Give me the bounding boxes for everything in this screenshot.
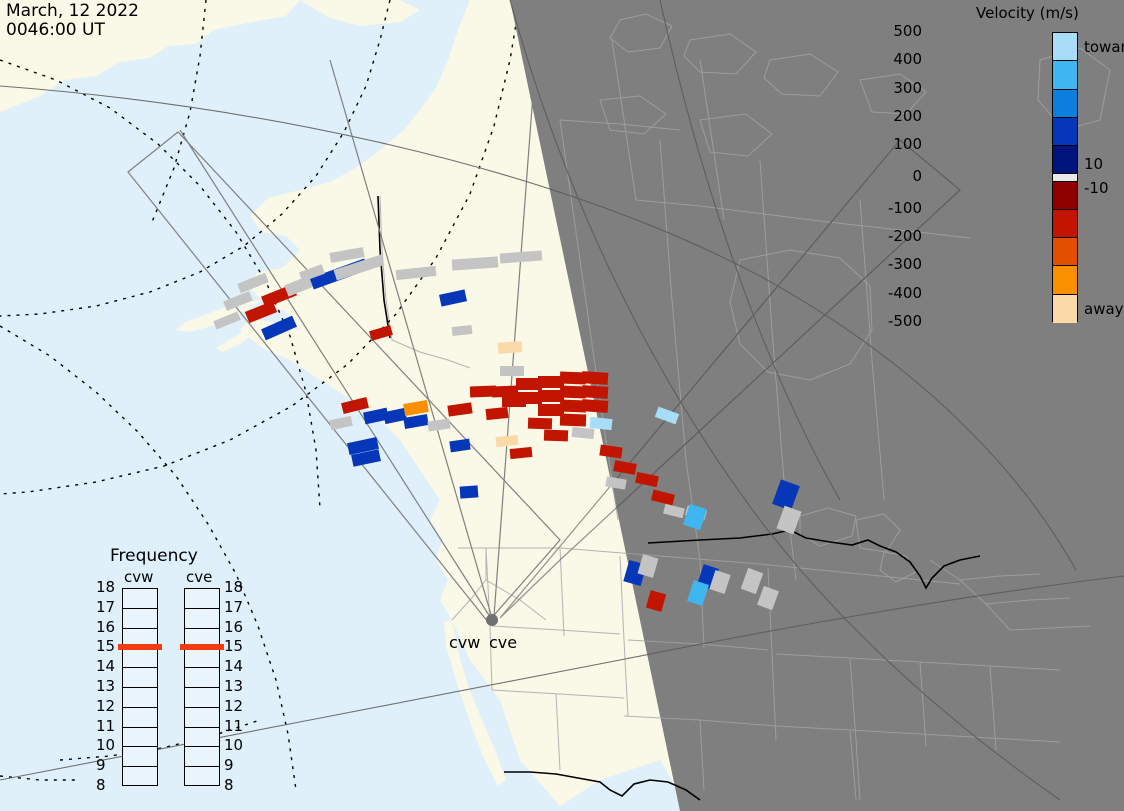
- frequency-scale-segment: [185, 668, 219, 688]
- frequency-tick-left: 10: [96, 736, 115, 754]
- velocity-cell: [582, 399, 609, 413]
- frequency-tick-right: 11: [224, 717, 243, 735]
- frequency-tick-right: 8: [224, 776, 234, 794]
- radar-label-cvw: cvw: [449, 633, 480, 652]
- colorbar-away-label: away: [1084, 300, 1124, 318]
- frequency-scale-segment: [185, 708, 219, 728]
- frequency-legend-title: Frequency: [110, 546, 198, 566]
- colorbar-band: [1053, 61, 1077, 89]
- colorbar-tick-label: -100: [888, 199, 922, 217]
- frequency-tick-left: 18: [96, 578, 115, 596]
- colorbar-band: [1053, 238, 1077, 266]
- colorbar-band: [1053, 90, 1077, 118]
- frequency-tick-left: 8: [96, 776, 106, 794]
- velocity-cell: [528, 418, 552, 430]
- frequency-scale-segment: [123, 767, 157, 787]
- frequency-tick-left: 11: [96, 717, 115, 735]
- colorbar-band: [1053, 146, 1077, 174]
- frequency-tick-right: 17: [224, 598, 243, 616]
- frequency-tick-left: 15: [96, 637, 115, 655]
- frequency-column-label: cvw: [124, 568, 153, 586]
- velocity-cell: [498, 341, 523, 354]
- ground-scatter-cell: [500, 366, 524, 376]
- frequency-scale-segment: [185, 728, 219, 748]
- frequency-tick-right: 13: [224, 677, 243, 695]
- colorbar-title: Velocity (m/s): [976, 4, 1079, 22]
- frequency-tick-right: 16: [224, 618, 243, 636]
- frequency-scale-segment: [123, 648, 157, 668]
- colorbar-band: [1053, 118, 1077, 146]
- frequency-tick-left: 14: [96, 657, 115, 675]
- colorbar-tick-label: -300: [888, 255, 922, 273]
- radar-site-marker: [486, 614, 498, 626]
- frequency-tick-right: 9: [224, 756, 234, 774]
- frequency-scale-segment: [123, 747, 157, 767]
- frequency-scale-segment: [185, 747, 219, 767]
- velocity-cell: [492, 386, 518, 398]
- colorbar-band: [1053, 295, 1077, 323]
- frequency-scale-segment: [185, 648, 219, 668]
- colorbar-band: [1053, 33, 1077, 61]
- colorbar-negative-threshold-label: -10: [1084, 179, 1109, 197]
- colorbar-tick-label: 400: [893, 50, 922, 68]
- timestamp-time: 0046:00 UT: [6, 20, 105, 40]
- frequency-scale-segment: [123, 668, 157, 688]
- frequency-scale-segment: [123, 609, 157, 629]
- colorbar-band: [1053, 182, 1077, 210]
- colorbar-tick-label: 100: [893, 135, 922, 153]
- frequency-tick-left: 9: [96, 756, 106, 774]
- velocity-cell: [460, 485, 479, 498]
- frequency-tick-left: 12: [96, 697, 115, 715]
- frequency-tick-left: 13: [96, 677, 115, 695]
- frequency-scale-segment: [123, 688, 157, 708]
- frequency-tick-left: 16: [96, 618, 115, 636]
- colorbar-zero-band: [1053, 174, 1077, 181]
- colorbar-tick-label: 300: [893, 79, 922, 97]
- velocity-cell: [502, 396, 526, 407]
- velocity-cell: [544, 430, 568, 442]
- colorbar-band: [1053, 210, 1077, 238]
- colorbar-toward-label: toward: [1084, 38, 1124, 56]
- velocity-cell: [589, 417, 612, 430]
- frequency-scale-segment: [123, 728, 157, 748]
- colorbar-tick-label: 500: [893, 22, 922, 40]
- frequency-tick-left: 17: [96, 598, 115, 616]
- frequency-scale-box: [184, 588, 220, 786]
- colorbar-band: [1053, 266, 1077, 294]
- frequency-scale-segment: [123, 589, 157, 609]
- colorbar-tick-label: -200: [888, 227, 922, 245]
- frequency-marker-cvw: [118, 644, 162, 650]
- radar-label-cve: cve: [489, 633, 517, 652]
- map-canvas: [0, 0, 1124, 811]
- frequency-scale-box: [122, 588, 158, 786]
- frequency-scale-segment: [185, 688, 219, 708]
- velocity-cell: [582, 371, 609, 385]
- timestamp: March, 12 2022 0046:00 UT: [6, 2, 139, 40]
- frequency-scale-segment: [123, 708, 157, 728]
- frequency-scale-segment: [185, 589, 219, 609]
- velocity-cell: [582, 385, 609, 399]
- frequency-tick-right: 12: [224, 697, 243, 715]
- frequency-tick-right: 10: [224, 736, 243, 754]
- frequency-scale-segment: [185, 767, 219, 787]
- frequency-marker-cve: [180, 644, 224, 650]
- colorbar-tick-label: -400: [888, 284, 922, 302]
- frequency-tick-right: 14: [224, 657, 243, 675]
- radar-map-figure: March, 12 2022 0046:00 UT Velocity (m/s)…: [0, 0, 1124, 811]
- colorbar-tick-label: 0: [912, 167, 922, 185]
- frequency-scale-segment: [185, 609, 219, 629]
- timestamp-date: March, 12 2022: [6, 1, 139, 21]
- colorbar-positive-threshold-label: 10: [1084, 155, 1103, 173]
- frequency-tick-right: 15: [224, 637, 243, 655]
- colorbar-tick-label: -500: [888, 312, 922, 330]
- frequency-tick-right: 18: [224, 578, 243, 596]
- frequency-column-label: cve: [186, 568, 212, 586]
- colorbar-tick-label: 200: [893, 107, 922, 125]
- velocity-cell: [485, 407, 508, 420]
- velocity-cell: [560, 414, 586, 427]
- colorbar-strip: [1052, 32, 1078, 322]
